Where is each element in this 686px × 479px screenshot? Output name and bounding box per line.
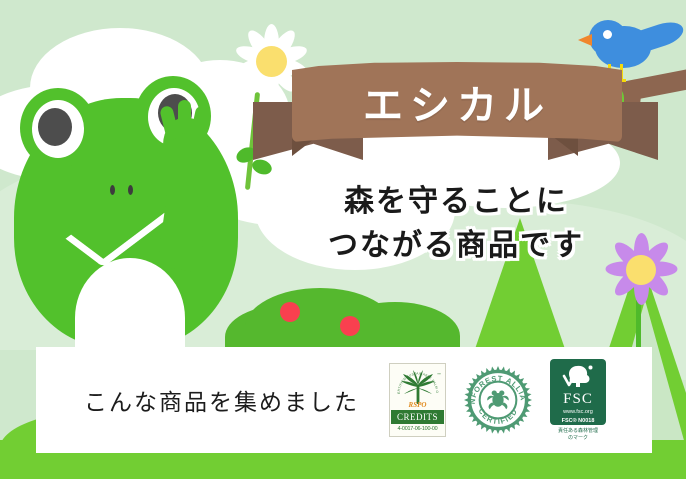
fsc-logo: FSC www.fsc.org FSC® N0018 責任ある森林管理 のマーク bbox=[550, 359, 606, 442]
red-berry-icon bbox=[340, 316, 360, 336]
headline: 森を守ることに つながる商品です bbox=[286, 180, 626, 269]
fsc-jp-line-1: 責任ある森林管理 bbox=[558, 428, 598, 435]
certification-logo-list: CERTIFIED SUSTAINABLE PALM OIL ™ bbox=[389, 359, 606, 442]
frog-pupil bbox=[38, 108, 72, 146]
headline-line-1: 森を守ることに bbox=[344, 184, 568, 219]
rspo-credits-logo: CERTIFIED SUSTAINABLE PALM OIL ™ bbox=[389, 363, 446, 437]
bird-beak bbox=[578, 34, 592, 46]
bird-eye bbox=[603, 30, 612, 39]
ethical-products-banner: エシカル 森を守ることに つながる商品です こんな商品を集めました CERTIF… bbox=[0, 0, 686, 479]
fsc-jp-line-2: のマーク bbox=[558, 435, 598, 442]
collection-card: こんな商品を集めました CERTIFIED SUSTAINABLE PALM O… bbox=[36, 347, 652, 453]
fsc-tree-checkmark-icon bbox=[561, 364, 595, 390]
ribbon-banner: エシカル bbox=[248, 56, 668, 168]
headline-line-2: つながる商品です bbox=[286, 224, 626, 268]
fsc-japanese-caption: 責任ある森林管理 のマーク bbox=[558, 428, 598, 442]
card-text: こんな商品を集めました bbox=[84, 383, 359, 417]
red-berry-icon bbox=[280, 302, 300, 322]
rspo-emblem: CERTIFIED SUSTAINABLE PALM OIL ™ bbox=[390, 364, 445, 410]
rspo-license-code: 4-0017-06-100-00 bbox=[398, 426, 438, 432]
frog-nostril bbox=[110, 185, 115, 195]
rspo-credits-badge: CREDITS bbox=[391, 410, 444, 424]
fsc-url: www.fsc.org bbox=[563, 409, 593, 415]
ribbon-label: エシカル bbox=[292, 62, 622, 142]
fsc-badge: FSC www.fsc.org FSC® N0018 bbox=[550, 359, 606, 425]
frog-finger bbox=[178, 100, 191, 134]
rspo-brand: RSPO bbox=[390, 401, 445, 409]
fsc-wordmark: FSC bbox=[563, 391, 593, 408]
rainforest-alliance-seal-icon: RAINFOREST ALLIANCE CERTIFIED bbox=[464, 366, 532, 434]
rainforest-alliance-logo: RAINFOREST ALLIANCE CERTIFIED bbox=[464, 366, 532, 434]
fsc-license-code: FSC® N0018 bbox=[562, 418, 595, 424]
